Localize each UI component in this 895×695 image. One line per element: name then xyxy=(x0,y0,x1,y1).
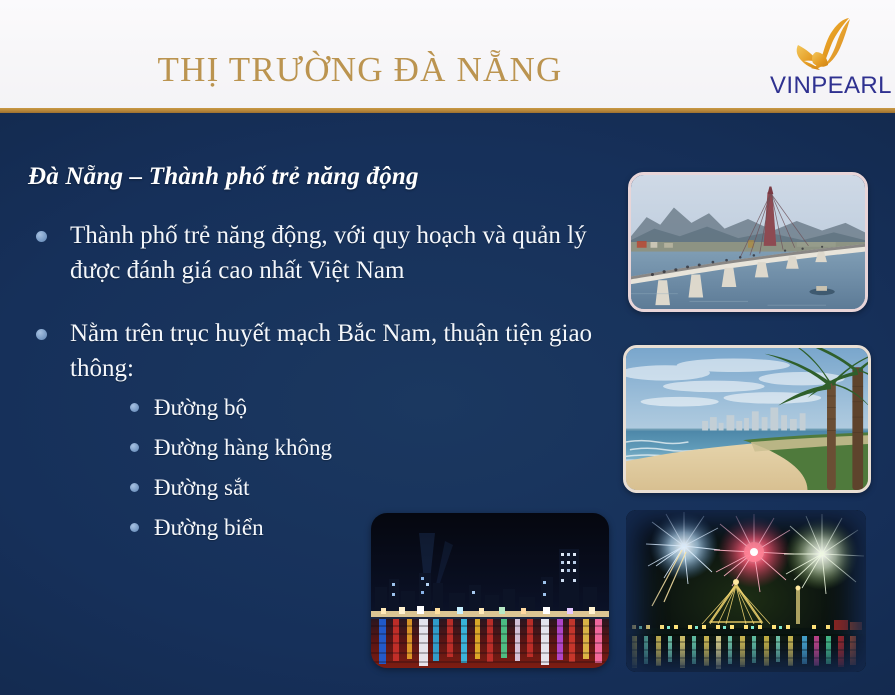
bullet-dot-icon xyxy=(36,329,47,340)
vinpearl-bird-icon xyxy=(792,16,858,72)
page-title: THỊ TRƯỜNG ĐÀ NẴNG xyxy=(0,50,720,90)
sub-bullet-item: Đường hàng không xyxy=(128,432,610,463)
fireworks-photo xyxy=(626,510,866,672)
sub-bullet-item: Đường sắt xyxy=(128,472,610,503)
bridge-photo xyxy=(628,172,868,312)
sub-bullet-text: Đường hàng không xyxy=(154,432,610,463)
sub-bullet-text: Đường sắt xyxy=(154,472,610,503)
sub-bullet-text: Đường bộ xyxy=(154,392,610,423)
beach-photo xyxy=(623,345,871,493)
bullet-dot-icon xyxy=(130,443,139,452)
section-subtitle: Đà Nẵng – Thành phố trẻ năng động xyxy=(28,163,419,191)
night-skyline-photo xyxy=(371,513,609,668)
bullet-dot-icon xyxy=(130,483,139,492)
bullet-dot-icon xyxy=(130,403,139,412)
vinpearl-wordmark: VINPEARL xyxy=(770,72,888,100)
bullet-text: Thành phố trẻ năng động, với quy hoạch v… xyxy=(70,218,610,288)
header-gold-divider xyxy=(0,108,895,113)
sub-bullet-item: Đường bộ xyxy=(128,392,610,423)
bullet-item: Thành phố trẻ năng động, với quy hoạch v… xyxy=(30,218,610,288)
slide: THỊ TRƯỜNG ĐÀ NẴNG xyxy=(0,0,895,695)
bullet-item: Nằm trên trục huyết mạch Bắc Nam, thuận … xyxy=(30,316,610,543)
vinpearl-logo[interactable]: VINPEARL xyxy=(770,16,888,98)
bullet-text: Nằm trên trục huyết mạch Bắc Nam, thuận … xyxy=(70,316,610,386)
bullet-dot-icon xyxy=(36,231,47,242)
bullet-dot-icon xyxy=(130,523,139,532)
